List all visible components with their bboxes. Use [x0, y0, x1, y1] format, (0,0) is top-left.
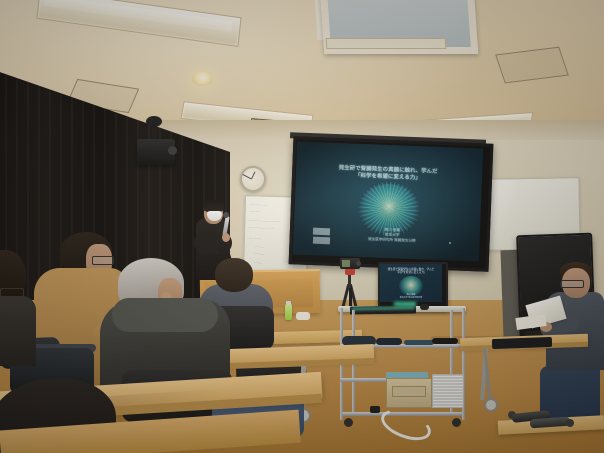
eyeglasses-icon: [560, 280, 584, 288]
cart-led-strip: [394, 302, 416, 306]
camera-lens-icon: [356, 261, 361, 266]
wire-basket: [432, 374, 464, 408]
screen-vignette: [293, 141, 483, 261]
sanitizer-pump-cap: [286, 301, 291, 305]
monitor-slide-credit: 西川 俊輔 熊本大学 発生医学研究所: [392, 294, 430, 299]
hand-sanitizer-bottle: [285, 304, 292, 320]
attendee-center-back-head: [215, 258, 253, 292]
monitor-credit-affiliation: 熊本大学 発生医学研究所: [392, 297, 430, 300]
attendee-far-left-torso: [0, 296, 36, 366]
cable-coil: [376, 338, 402, 345]
tripod-head: [345, 268, 355, 275]
cart-caster-wheel: [344, 418, 353, 427]
microphone-head-icon: [566, 419, 574, 427]
projector-lens-icon: [168, 146, 177, 155]
eyeglasses-icon: [92, 256, 114, 265]
desk-mat: [492, 337, 552, 349]
cable-bundle: [432, 338, 458, 344]
camcorder-flip-screen: [342, 260, 350, 267]
foot-pedal: [370, 406, 380, 413]
presenter-hand: [222, 233, 230, 242]
monitor-title-line-2: 「科学を希望に変える力」: [382, 271, 440, 274]
box-label: [392, 386, 426, 397]
ceiling-light-slat: [326, 38, 447, 49]
monitor-slide-graphic: [399, 276, 423, 296]
computer-mouse: [420, 304, 429, 310]
seminar-room-photo: ________ ____ ___ ____ _______ ___ ____ …: [0, 0, 604, 453]
cable-bundle: [404, 340, 434, 345]
cart-caster-wheel: [452, 418, 461, 427]
tissue-pack: [296, 312, 310, 320]
wall-clock: [240, 166, 266, 192]
hoodie-collar: [112, 298, 218, 332]
monitor-slide-title: 発生研で腎臓発生の真髄に触れ、学んだ 「科学を希望に変える力」: [382, 268, 440, 275]
microphone-head-icon: [223, 212, 229, 218]
table-caster-wheel: [484, 398, 498, 412]
ceiling-downlight: [192, 72, 213, 86]
